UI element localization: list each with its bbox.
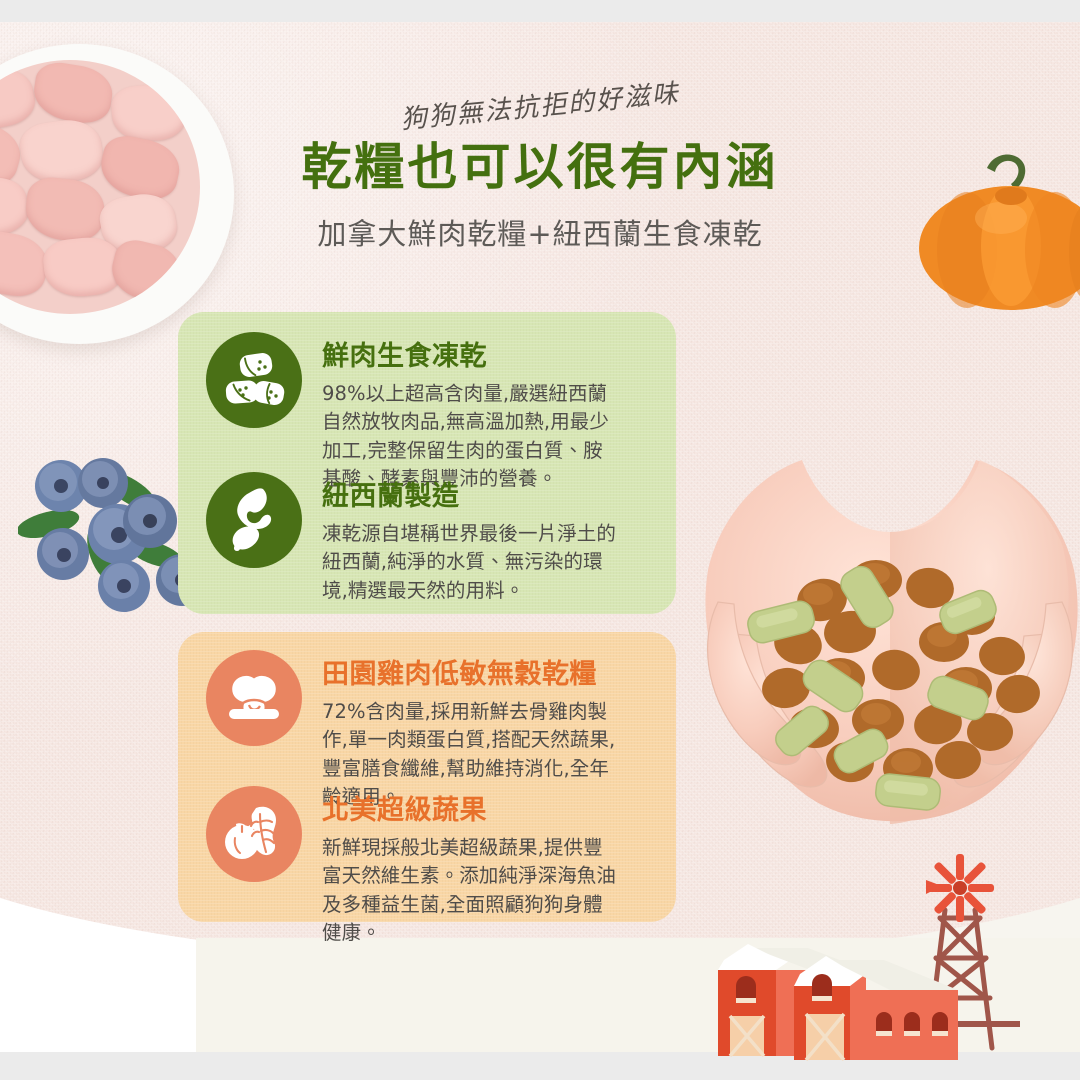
new-zealand-map-icon	[206, 472, 302, 568]
feature-freeze-dried-meat[interactable]: 鮮肉生食凍乾 98%以上超高含肉量,嚴選紐西蘭自然放牧肉品,無高溫加熱,用最少加…	[206, 332, 622, 494]
feature-body: 新鮮現採般北美超級蔬果,提供豐富天然維生素。添加純淨深海魚油及多種益生菌,全面照…	[322, 834, 622, 948]
feature-text: 鮮肉生食凍乾 98%以上超高含肉量,嚴選紐西蘭自然放牧肉品,無高溫加熱,用最少加…	[322, 332, 622, 494]
tomato-vegetable-icon	[206, 786, 302, 882]
page-title: 乾糧也可以很有內涵	[0, 139, 1080, 197]
feature-title: 鮮肉生食凍乾	[322, 334, 622, 373]
infographic-canvas: 鮮肉生食凍乾 98%以上超高含肉量,嚴選紐西蘭自然放牧肉品,無高溫加熱,用最少加…	[0, 0, 1080, 1080]
feature-text: 紐西蘭製造 凍乾源自堪稱世界最後一片淨土的紐西蘭,純淨的水質、無污染的環境,精選…	[322, 472, 622, 605]
chicken-meat-icon	[206, 650, 302, 746]
header: 狗狗無法抗拒的好滋味 乾糧也可以很有內涵 加拿大鮮肉乾糧+紐西蘭生食凍乾	[0, 86, 1080, 253]
feature-text: 北美超級蔬果 新鮮現採般北美超級蔬果,提供豐富天然維生素。添加純淨深海魚油及多種…	[322, 786, 622, 948]
barn-front	[794, 956, 958, 1060]
feature-super-vegetables[interactable]: 北美超級蔬果 新鮮現採般北美超級蔬果,提供豐富天然維生素。添加純淨深海魚油及多種…	[206, 786, 622, 948]
freeze-dried-meat-icon	[206, 332, 302, 428]
page-subtitle: 加拿大鮮肉乾糧+紐西蘭生食凍乾	[0, 211, 1080, 253]
feature-title: 紐西蘭製造	[322, 474, 622, 513]
feature-body: 凍乾源自堪稱世界最後一片淨土的紐西蘭,純淨的水質、無污染的環境,精選最天然的用料…	[322, 520, 622, 605]
feature-title: 北美超級蔬果	[322, 788, 622, 827]
hands-holding-kibble-photo	[690, 420, 1080, 840]
feature-title: 田園雞肉低敏無穀乾糧	[322, 652, 622, 691]
farm-barn-windmill-illustration	[690, 848, 1020, 1068]
feature-new-zealand-made[interactable]: 紐西蘭製造 凍乾源自堪稱世界最後一片淨土的紐西蘭,純淨的水質、無污染的環境,精選…	[206, 472, 622, 605]
top-gray-band	[0, 0, 1080, 22]
